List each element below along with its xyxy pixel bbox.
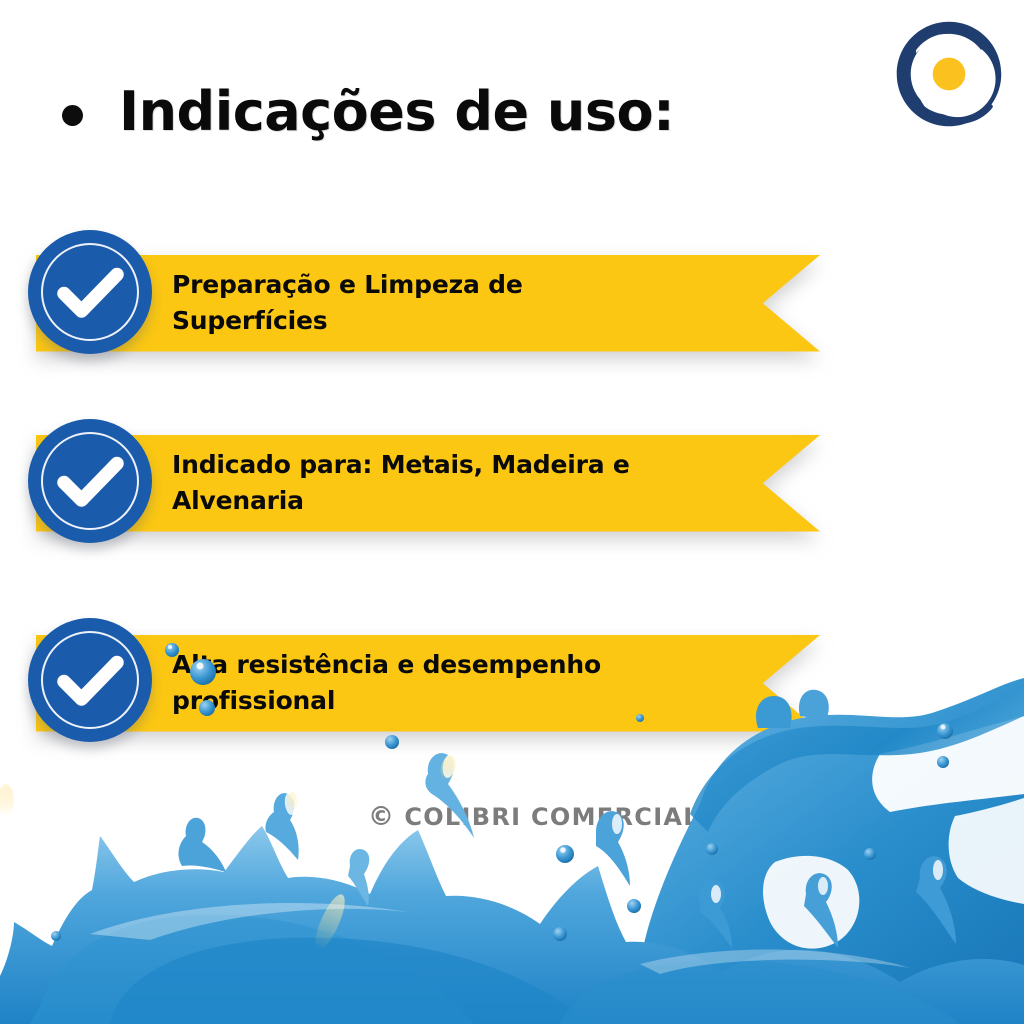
ribbon-banner: Alta resistência e desempenho profission… xyxy=(36,635,820,732)
feature-badge: Indicado para: Metais, Madeira e Alvenar… xyxy=(0,408,1024,598)
check-circle-icon xyxy=(28,230,152,354)
poster-canvas: Indicações de uso: Preparação e Limpeza … xyxy=(0,0,1024,1024)
check-circle-icon xyxy=(28,419,152,543)
ribbon-label: Indicado para: Metais, Madeira e Alvenar… xyxy=(172,447,670,520)
feature-badge: Alta resistência e desempenho profission… xyxy=(0,608,1024,798)
ribbon-banner: Indicado para: Metais, Madeira e Alvenar… xyxy=(36,435,820,532)
ribbon-banner: Preparação e Limpeza de Superfícies xyxy=(36,255,820,352)
feature-badge: Preparação e Limpeza de Superfícies xyxy=(0,228,1024,418)
watermark: © COLIBRI COMERCIAL xyxy=(368,803,700,831)
bullet-icon xyxy=(62,105,83,126)
ribbon-label: Preparação e Limpeza de Superfícies xyxy=(172,267,670,340)
splash-main-body xyxy=(0,826,1024,1024)
colibri-spiral-logo-icon xyxy=(893,18,1005,130)
copyright-icon: © xyxy=(368,804,395,830)
watermark-text: COLIBRI COMERCIAL xyxy=(404,803,700,831)
check-circle-icon xyxy=(28,618,152,742)
ribbon-label: Alta resistência e desempenho profission… xyxy=(172,647,670,720)
page-title: Indicações de uso: xyxy=(62,84,674,141)
page-title-text: Indicações de uso: xyxy=(119,84,674,141)
